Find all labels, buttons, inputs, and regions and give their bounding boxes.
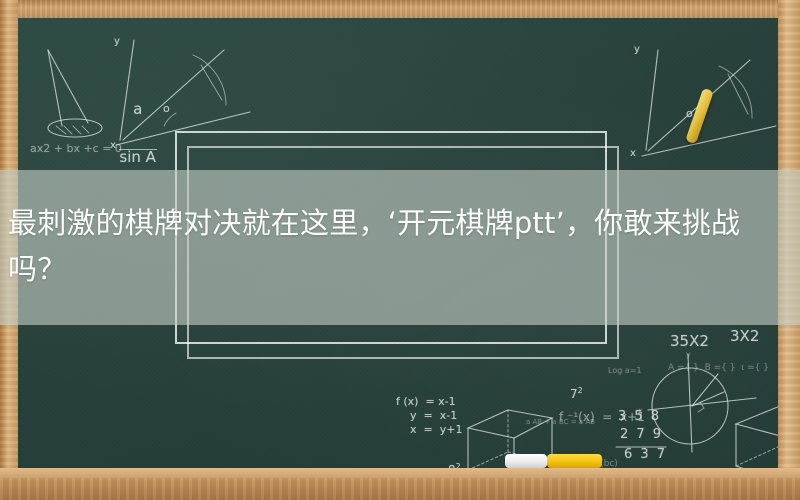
chalk-sum-total: 6 3 7	[624, 448, 667, 463]
chalk-small-identity: a AB + a BC = a AB	[526, 418, 595, 426]
white-chalk[interactable]	[505, 454, 547, 468]
yellow-chalk[interactable]	[547, 454, 602, 468]
chalk-circle-axis-y: y	[686, 350, 691, 359]
chalk-fx-line-2: y = x-1	[410, 410, 457, 423]
chalk-mult-3x2: 3X2	[730, 328, 759, 345]
chalk-square-seven: 72	[570, 386, 583, 402]
chalk-axis-x-topright: x	[630, 148, 636, 160]
cube-diagram-right	[718, 388, 778, 470]
headline-line-2: 吗？	[8, 246, 796, 292]
headline-text-block: 最刺激的棋牌对决就在这里，‘开元棋牌ptt’，你敢来挑战 吗？	[0, 170, 800, 325]
chalk-log-a-label: Log a=1	[608, 366, 642, 375]
chalk-axis-y-topleft: y	[114, 36, 120, 48]
chalk-quadratic-equation: ax2 + bx +c = 0	[30, 143, 122, 156]
chalk-angle-label-topleft: o	[163, 103, 170, 116]
frame-top-edge	[0, 0, 800, 18]
chalk-fx-line-3: x = y+1	[410, 424, 462, 437]
chalk-sum-row-2: 2 7 9	[620, 428, 663, 443]
chalk-fx-line-1: f (x) = x-1	[396, 396, 456, 409]
headline-line-1: 最刺激的棋牌对决就在这里，‘开元棋牌ptt’，你敢来挑战	[8, 200, 796, 246]
screenshot-root: a sin A y x o ax2 + bx +c = 0 y x o	[0, 0, 800, 500]
chalk-tray-lip	[0, 468, 800, 478]
chalk-axis-y-topright: y	[634, 44, 640, 56]
